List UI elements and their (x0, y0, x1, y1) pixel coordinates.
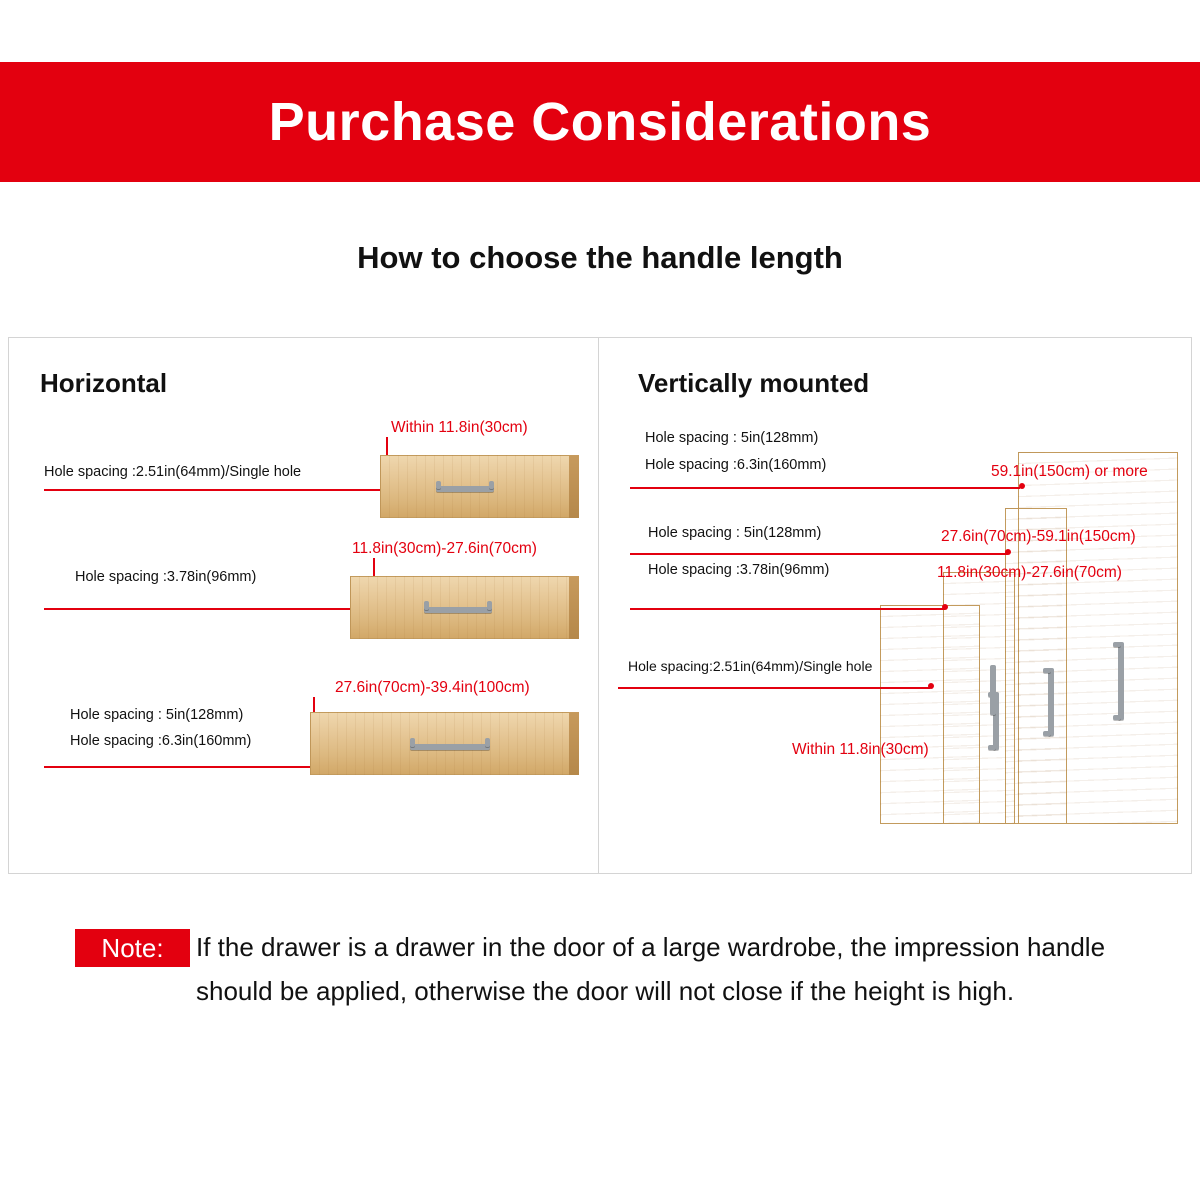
wood-grain (880, 605, 980, 824)
handle-icon (1118, 642, 1124, 720)
v-row4-length: Within 11.8in(30cm) (792, 741, 929, 759)
v-row1-length: 59.1in(150cm) or more (991, 463, 1148, 481)
handle-icon (424, 607, 492, 613)
handle-post-right-icon (485, 738, 490, 747)
note-badge: Note: (75, 929, 190, 967)
drawer-side (569, 712, 579, 775)
drawer-small (380, 455, 578, 518)
v-row2-leader-line (630, 553, 1008, 555)
handle-post-bottom-icon (1113, 715, 1121, 720)
v-row1-leader-dot (1019, 483, 1025, 489)
v-row2-length: 27.6in(70cm)-59.1in(150cm) (941, 528, 1136, 546)
v-row4-spec: Hole spacing:2.51in(64mm)/Single hole (628, 658, 872, 674)
subtitle: How to choose the handle length (0, 240, 1200, 276)
h-row1-spec: Hole spacing :2.51in(64mm)/Single hole (44, 464, 301, 480)
v-row3-spec: Hole spacing :3.78in(96mm) (648, 562, 829, 578)
handle-post-right-icon (489, 481, 494, 489)
v-row1-spec-b: Hole spacing :6.3in(160mm) (645, 457, 826, 473)
v-row2-leader-dot (1005, 549, 1011, 555)
v-row1-leader-line (630, 487, 1020, 489)
handle-icon (410, 744, 490, 750)
v-row4-leader-line (618, 687, 930, 689)
handle-post-bottom-icon (988, 745, 996, 750)
header-banner: Purchase Considerations (0, 62, 1200, 182)
handle-post-left-icon (436, 481, 441, 489)
drawer-large (310, 712, 578, 775)
v-row1-spec-a: Hole spacing : 5in(128mm) (645, 430, 818, 446)
h-row3-spec-b: Hole spacing :6.3in(160mm) (70, 733, 251, 749)
handle-post-right-icon (487, 601, 492, 610)
note-text: If the drawer is a drawer in the door of… (196, 925, 1136, 1013)
panel-divider (598, 337, 599, 874)
note-badge-label: Note: (101, 933, 163, 964)
handle-post-left-icon (424, 601, 429, 610)
drawer-side (569, 576, 579, 639)
h-row2-length: 11.8in(30cm)-27.6in(70cm) (352, 540, 537, 558)
h-row2-leader-line (44, 608, 374, 610)
handle-post-top-icon (1043, 668, 1051, 673)
v-row2-spec: Hole spacing : 5in(128mm) (648, 525, 821, 541)
handle-post-top-icon (1113, 642, 1121, 647)
v-row3-leader-line (630, 608, 945, 610)
handle-post-left-icon (410, 738, 415, 747)
v-row3-length: 11.8in(30cm)-27.6in(70cm) (937, 564, 1122, 582)
panel-title-vertical: Vertically mounted (638, 368, 869, 399)
handle-icon (436, 486, 494, 492)
h-row2-spec: Hole spacing :3.78in(96mm) (75, 569, 256, 585)
h-row3-length: 27.6in(70cm)-39.4in(100cm) (335, 679, 530, 697)
handle-icon (990, 665, 996, 715)
v-row4-leader-dot (928, 683, 934, 689)
h-row1-length: Within 11.8in(30cm) (391, 419, 528, 437)
handle-post-bottom-icon (1043, 731, 1051, 736)
v-row3-leader-dot (942, 604, 948, 610)
drawer-side (569, 455, 579, 518)
h-row1-leader-line (44, 489, 387, 491)
page-title: Purchase Considerations (269, 91, 932, 153)
handle-icon (1048, 668, 1054, 736)
h-row3-leader-line (44, 766, 314, 768)
h-row3-spec-a: Hole spacing : 5in(128mm) (70, 707, 243, 723)
door-small (880, 605, 980, 824)
drawer-medium (350, 576, 578, 639)
panel-title-horizontal: Horizontal (40, 368, 167, 399)
